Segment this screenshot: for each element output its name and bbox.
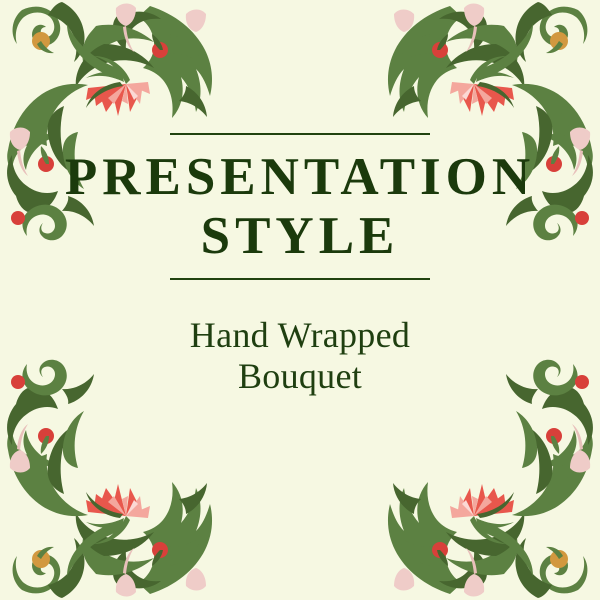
- presentation-slide: PRESENTATION STYLE Hand Wrapped Bouquet: [0, 0, 600, 600]
- title-divider-top: [170, 133, 430, 135]
- page-title: PRESENTATION STYLE: [20, 148, 580, 267]
- page-title-line-2: STYLE: [20, 207, 580, 266]
- title-divider-bottom: [170, 278, 430, 280]
- page-subtitle: Hand Wrapped Bouquet: [100, 315, 500, 399]
- slide-text-block: PRESENTATION STYLE Hand Wrapped Bouquet: [0, 0, 600, 600]
- page-subtitle-line-1: Hand Wrapped: [100, 315, 500, 357]
- page-subtitle-line-2: Bouquet: [100, 356, 500, 398]
- page-title-line-1: PRESENTATION: [20, 148, 580, 207]
